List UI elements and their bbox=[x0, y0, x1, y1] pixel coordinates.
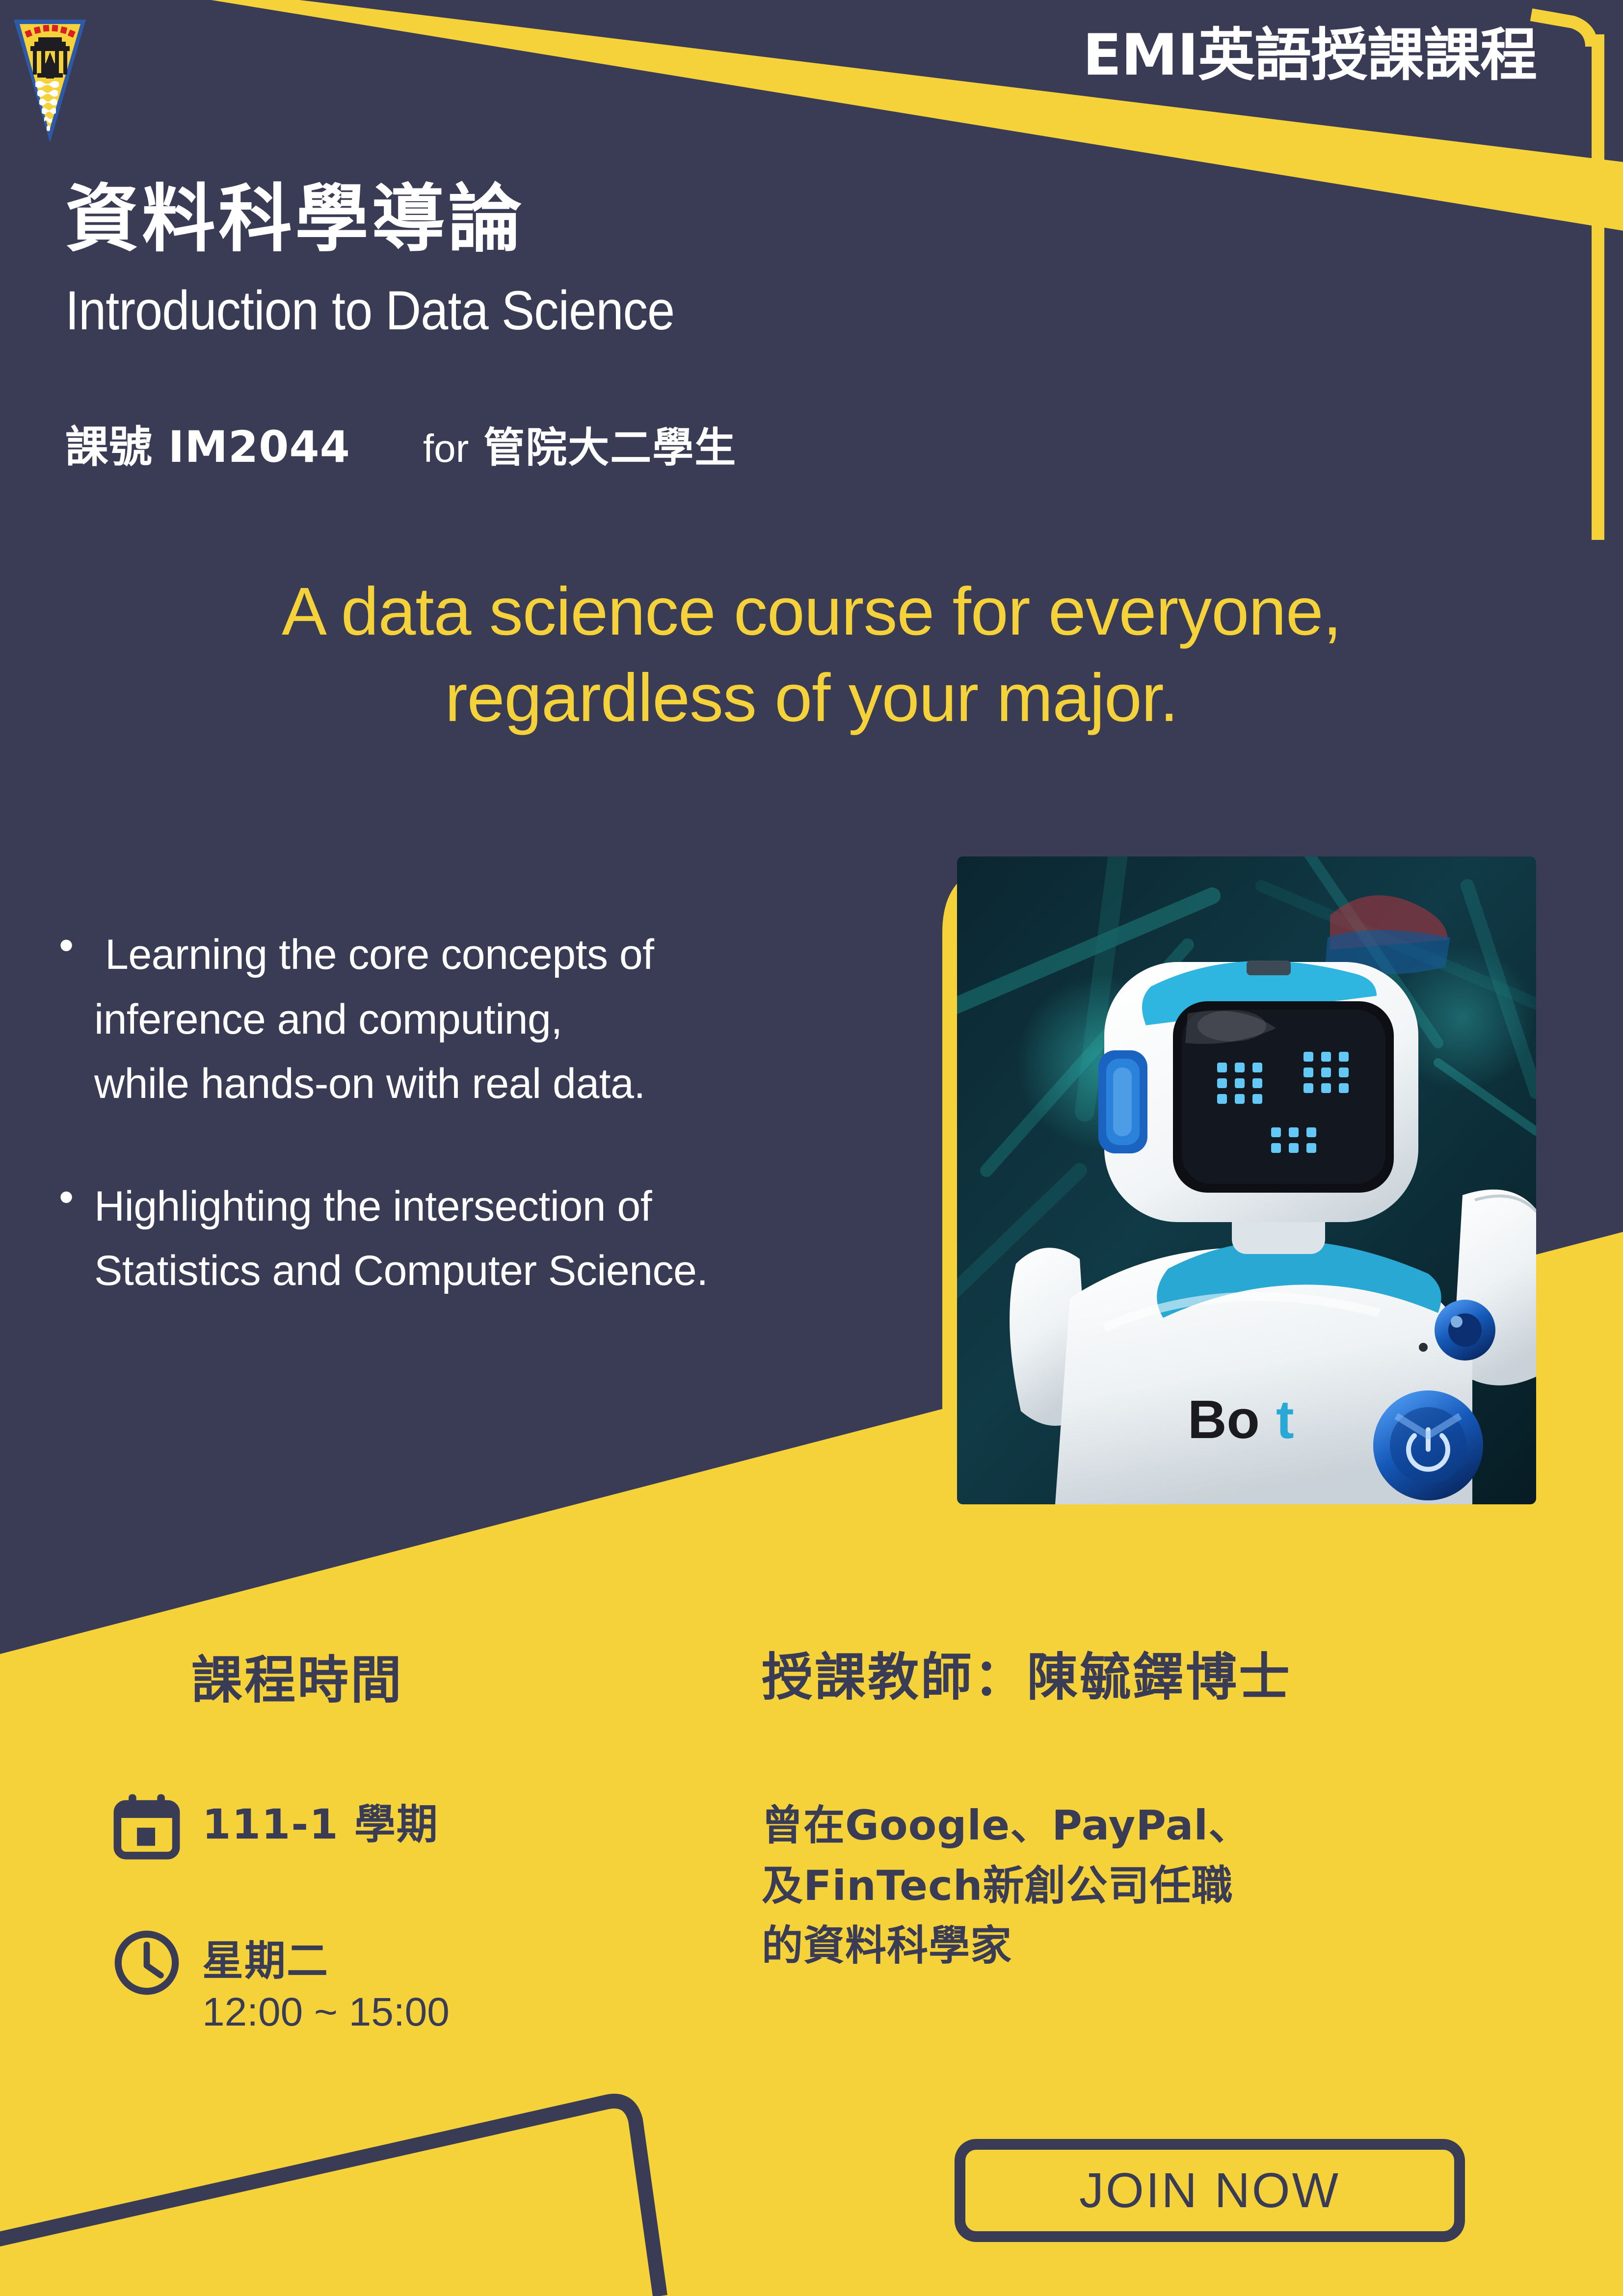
emi-course-label: EMI英語授課課程 bbox=[1083, 9, 1537, 91]
bullet-line: Highlighting the intersection of bbox=[94, 1175, 708, 1239]
tagline-line-2: regardless of your major. bbox=[0, 653, 1623, 743]
robot-chest-text-accent: t bbox=[1276, 1389, 1294, 1450]
poster-root: EMI英語授課課程 資料科學導論 Introduction to Data Sc… bbox=[0, 0, 1623, 2296]
join-now-button-label: JOIN NOW bbox=[1079, 2163, 1340, 2219]
time-range-value: 12:00 ~ 15:00 bbox=[202, 1989, 450, 2035]
calendar-icon bbox=[112, 1791, 186, 1864]
semester-info: 111-1 學期 bbox=[202, 1791, 439, 1851]
robot-ear-piece bbox=[1098, 1050, 1147, 1153]
tagline: A data science course for everyone, rega… bbox=[0, 567, 1623, 743]
robot-photo: Bo t bbox=[957, 856, 1536, 1504]
teacher-bio-line: 的資料科學家 bbox=[762, 1916, 1250, 1976]
yellow-right-bar bbox=[1592, 34, 1604, 540]
course-meta-row: 課號 IM2044 for 管院大二學生 bbox=[65, 412, 737, 475]
weekday-value: 星期二 bbox=[202, 1928, 450, 1987]
teacher-bio-line: 及FinTech新創公司任職 bbox=[762, 1856, 1250, 1916]
semester-value: 111-1 學期 bbox=[202, 1791, 439, 1851]
robot-power-button bbox=[1373, 1390, 1483, 1500]
schedule-heading: 課程時間 bbox=[191, 1638, 403, 1712]
course-for-label: for bbox=[423, 426, 469, 471]
page-title-en: Introduction to Data Science bbox=[65, 279, 674, 342]
course-number: 課號 IM2044 bbox=[65, 412, 350, 475]
join-now-button[interactable]: JOIN NOW bbox=[955, 2139, 1465, 2242]
list-item: • Learning the core concepts of inferenc… bbox=[59, 923, 923, 1117]
teacher-bio-line: 曾在Google、PayPal、 bbox=[762, 1795, 1250, 1856]
robot-shoulder-sensor bbox=[1435, 1300, 1495, 1361]
bullet-dot-icon: • bbox=[59, 1175, 94, 1304]
page-title-zh: 資料科學導論 bbox=[65, 160, 525, 266]
bullet-line: while hands-on with real data. bbox=[94, 1052, 654, 1117]
tagline-line-1: A data science course for everyone, bbox=[0, 567, 1623, 656]
schedule-time-row: 星期二 12:00 ~ 15:00 bbox=[112, 1928, 450, 2035]
robot-torso: Bo t bbox=[1055, 1240, 1495, 1504]
robot-indicator-dot bbox=[1419, 1343, 1428, 1352]
teacher-bio: 曾在Google、PayPal、 及FinTech新創公司任職 的資料科學家 bbox=[762, 1795, 1250, 1976]
schedule-semester-row: 111-1 學期 bbox=[112, 1791, 439, 1864]
ncu-logo bbox=[7, 9, 93, 146]
bullet-dot-icon: • bbox=[59, 923, 94, 1117]
course-audience: 管院大二學生 bbox=[483, 415, 737, 474]
time-info: 星期二 12:00 ~ 15:00 bbox=[202, 1928, 450, 2035]
logo-gate-icon bbox=[30, 37, 70, 79]
bullet-text: Highlighting the intersection of Statist… bbox=[94, 1175, 708, 1304]
robot-head bbox=[1098, 961, 1418, 1222]
robot-chest-text: Bo bbox=[1188, 1389, 1260, 1450]
bullet-line: Learning the core concepts of bbox=[94, 923, 654, 988]
teacher-heading: 授課教師：陳毓鐸博士 bbox=[762, 1635, 1292, 1709]
bullet-line: inference and computing, bbox=[94, 988, 654, 1052]
feature-bullet-list: • Learning the core concepts of inferenc… bbox=[59, 923, 923, 1362]
list-item: • Highlighting the intersection of Stati… bbox=[59, 1175, 923, 1304]
bullet-line: Statistics and Computer Science. bbox=[94, 1239, 708, 1304]
robot-head-slot bbox=[1247, 961, 1291, 975]
clock-icon bbox=[112, 1928, 186, 2000]
bullet-text: Learning the core concepts of inference … bbox=[94, 923, 654, 1117]
